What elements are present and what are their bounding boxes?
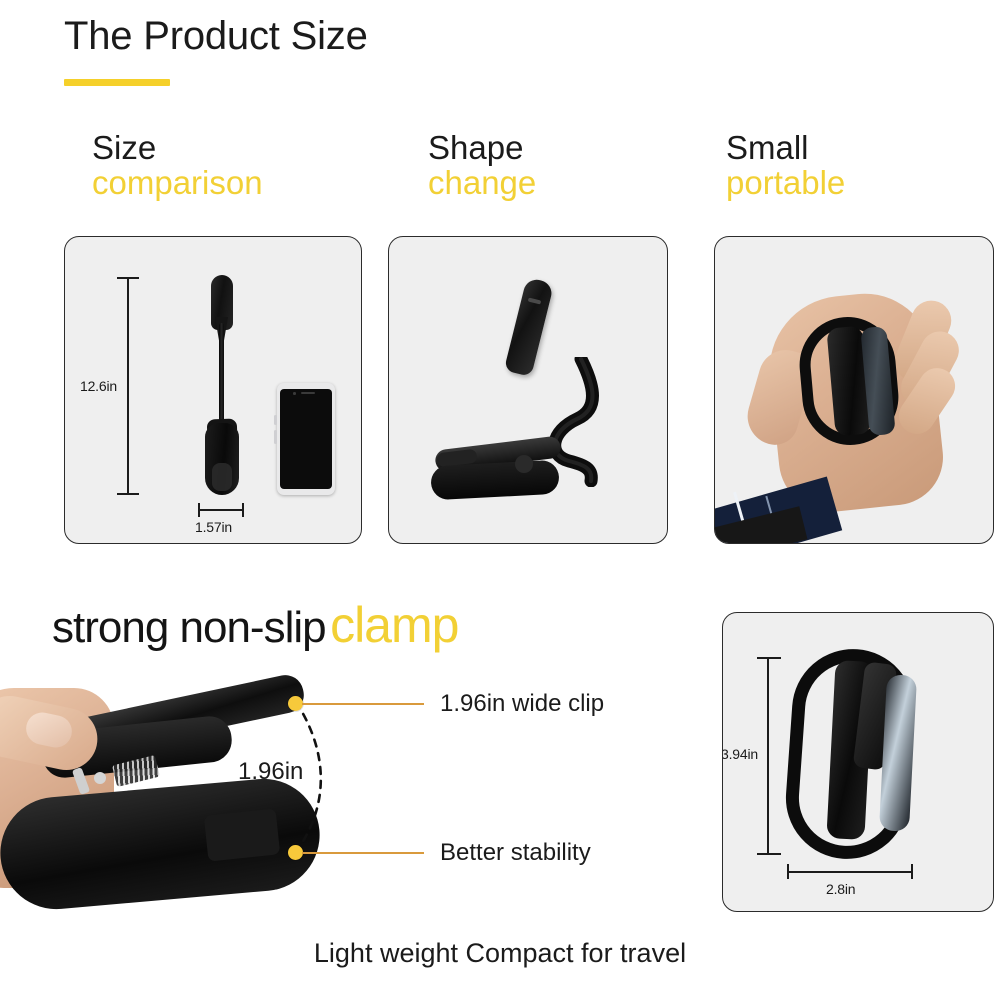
product-photo-lamp-vs-phone: 12.6in 1.57in [65, 237, 361, 543]
lamp-gooseneck [219, 323, 224, 433]
panel-shape-change [388, 236, 668, 544]
dimension-cap-left [198, 503, 200, 517]
dimension-cap-top [117, 277, 139, 279]
panel-size-comparison: 12.6in 1.57in [64, 236, 362, 544]
smartphone-screen [280, 389, 332, 489]
clamp-base [430, 460, 560, 501]
lamp-clip-pad [212, 463, 232, 491]
callout-dot-better-stability [288, 845, 303, 860]
feature-header-line1: Size [92, 131, 263, 164]
dimension-label-width: 2.8in [826, 881, 855, 897]
dimension-line-vertical [767, 657, 769, 855]
callout-dot-wide-clip [288, 696, 303, 711]
dimension-line-vertical [127, 277, 129, 495]
dimension-line-horizontal [198, 509, 244, 511]
clamp-section-heading: strong non-slip clamp [52, 596, 458, 654]
dimension-label-width: 1.57in [195, 519, 232, 535]
dimension-cap-bottom [117, 493, 139, 495]
dimension-cap-left [787, 864, 789, 879]
feature-header-line2: comparison [92, 164, 263, 203]
dimension-cap-right [911, 864, 913, 879]
product-photo-hand-holding-device [715, 237, 993, 543]
callout-leader-line [302, 703, 424, 705]
callout-label-better-stability: Better stability [440, 839, 591, 867]
callout-leader-line [302, 852, 424, 854]
clamp-hinge [94, 772, 106, 784]
title-underline-bar [64, 79, 170, 86]
smartphone-button-lower [274, 430, 277, 444]
dimension-line-horizontal [787, 871, 913, 873]
feature-header-line1: Shape [428, 131, 536, 164]
feature-header-small-portable: Small portable [726, 131, 845, 203]
clamp-heading-black: strong non-slip [52, 603, 326, 652]
smartphone-camera-dot [293, 392, 296, 395]
clamp-rubber-pad [204, 808, 280, 861]
panel-small-portable [714, 236, 994, 544]
feature-header-size-comparison: Size comparison [92, 131, 263, 203]
dimension-cap-right [242, 503, 244, 517]
arc-dimension-label: 1.96in [238, 758, 303, 786]
callout-label-wide-clip: 1.96in wide clip [440, 690, 604, 718]
smartphone-earpiece [301, 392, 315, 394]
page-title: The Product Size [64, 14, 368, 59]
clamp-hinge [515, 455, 533, 473]
dimension-cap-top [757, 657, 781, 659]
bottom-caption: Light weight Compact for travel [0, 938, 1000, 969]
panel-folded-dimensions: 3.94in 2.8in [722, 612, 994, 912]
feature-header-line2: change [428, 164, 536, 203]
dimension-cap-bottom [757, 853, 781, 855]
clamp-heading-yellow: clamp [330, 597, 458, 653]
feature-header-line2: portable [726, 164, 845, 203]
dimension-label-height: 3.94in [722, 746, 758, 762]
product-photo-gooseneck-lamp [389, 237, 667, 543]
feature-header-shape-change: Shape change [428, 131, 536, 203]
dimension-label-height: 12.6in [80, 378, 117, 394]
feature-header-line1: Small [726, 131, 845, 164]
product-photo-folded-device: 3.94in 2.8in [723, 613, 993, 911]
smartphone-button-upper [274, 415, 277, 425]
